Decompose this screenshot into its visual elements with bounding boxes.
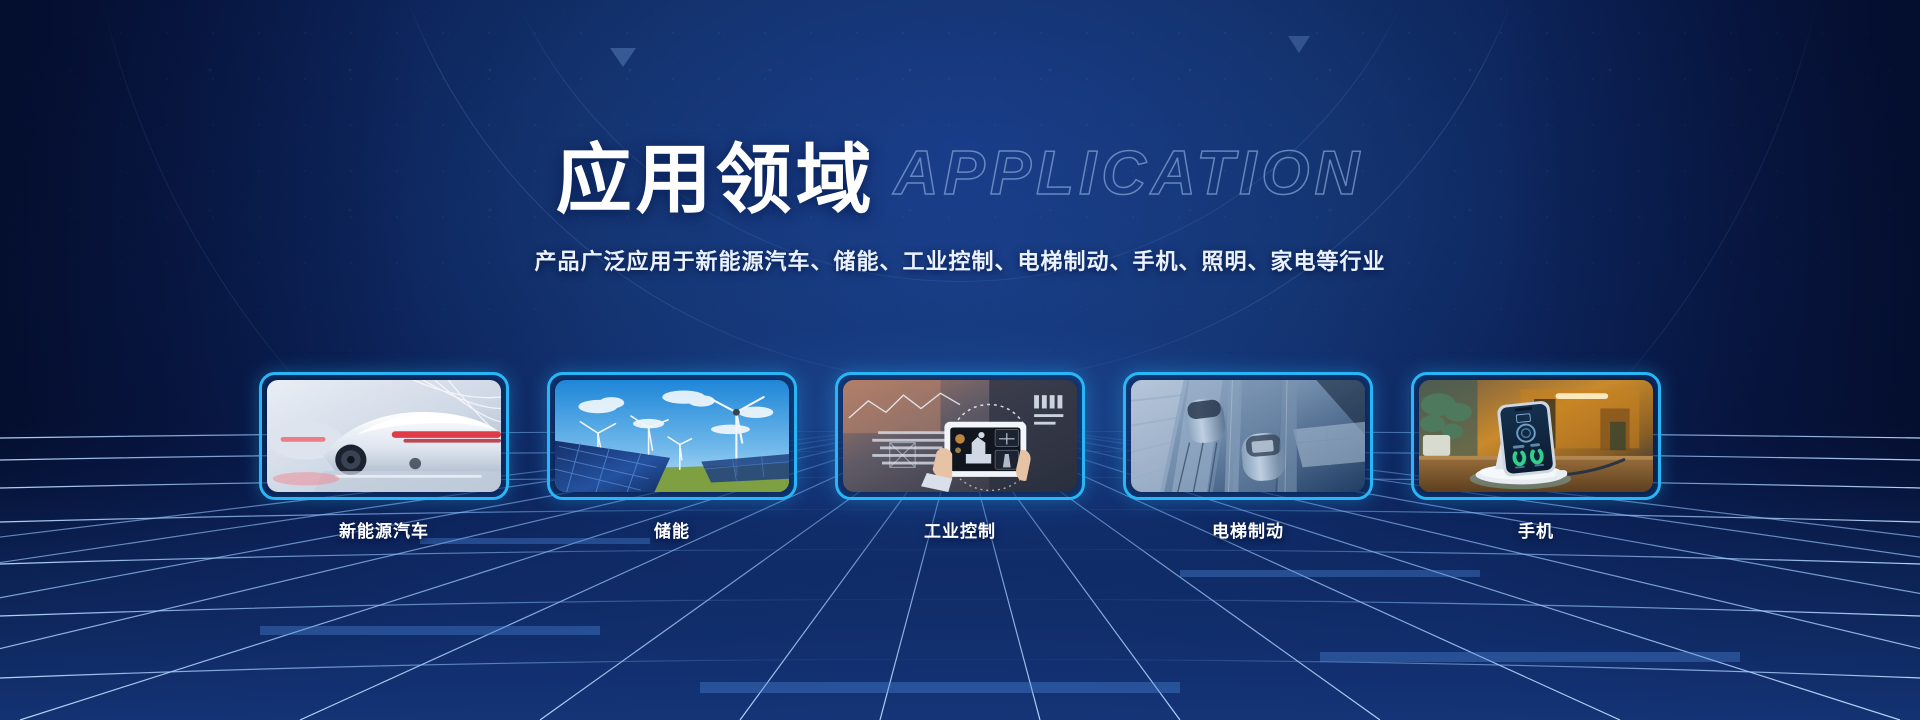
card-label: 手机 <box>1411 517 1661 542</box>
application-cards: 新能源汽车 <box>0 372 1920 542</box>
card-elevator-braking[interactable]: 电梯制动 <box>1123 372 1373 542</box>
smartphone-wireless-charger-photo <box>1419 380 1653 492</box>
card-energy-storage[interactable]: 储能 <box>547 372 797 542</box>
card-mobile-phone[interactable]: 手机 <box>1411 372 1661 542</box>
page-title-en: APPLICATION <box>894 139 1365 208</box>
application-banner: 应用领域APPLICATION 产品广泛应用于新能源汽车、储能、工业控制、电梯制… <box>0 0 1920 720</box>
card-label: 工业控制 <box>835 517 1085 542</box>
sports-car-photo <box>267 380 501 492</box>
solar-wind-farm-photo <box>555 380 789 492</box>
title-row: 应用领域APPLICATION <box>556 118 1365 228</box>
card-frame[interactable] <box>1411 372 1661 500</box>
card-frame[interactable] <box>259 372 509 500</box>
card-label: 新能源汽车 <box>259 517 509 542</box>
card-frame[interactable] <box>835 372 1085 500</box>
card-frame[interactable] <box>547 372 797 500</box>
card-label: 电梯制动 <box>1123 517 1373 542</box>
page-title: 应用领域 <box>556 135 876 224</box>
card-new-energy-vehicle[interactable]: 新能源汽车 <box>259 372 509 542</box>
tablet-industrial-hmi-photo <box>843 380 1077 492</box>
heading-block: 应用领域APPLICATION 产品广泛应用于新能源汽车、储能、工业控制、电梯制… <box>0 118 1920 276</box>
page-subtitle: 产品广泛应用于新能源汽车、储能、工业控制、电梯制动、手机、照明、家电等行业 <box>0 244 1920 276</box>
glass-elevator-shaft-photo <box>1131 380 1365 492</box>
card-industrial-control[interactable]: 工业控制 <box>835 372 1085 542</box>
card-label: 储能 <box>547 517 797 542</box>
card-frame[interactable] <box>1123 372 1373 500</box>
